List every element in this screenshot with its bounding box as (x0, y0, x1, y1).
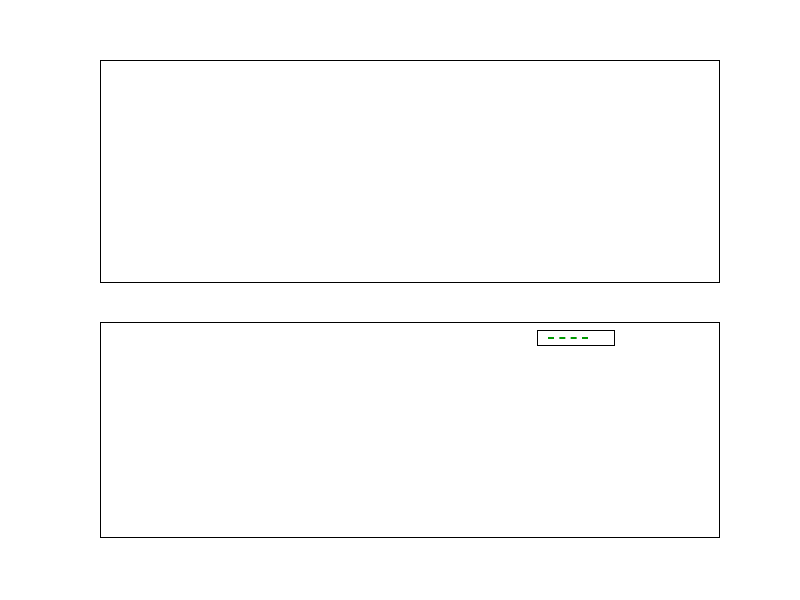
top-histogram-axes (100, 60, 720, 283)
bottom-cumulative-axes (100, 322, 720, 538)
legend[interactable] (537, 330, 615, 346)
cumulative-curve (101, 323, 719, 537)
mag-limit-line-icon (548, 337, 588, 339)
histogram-bars (101, 61, 719, 282)
figure-canvas (0, 0, 800, 600)
